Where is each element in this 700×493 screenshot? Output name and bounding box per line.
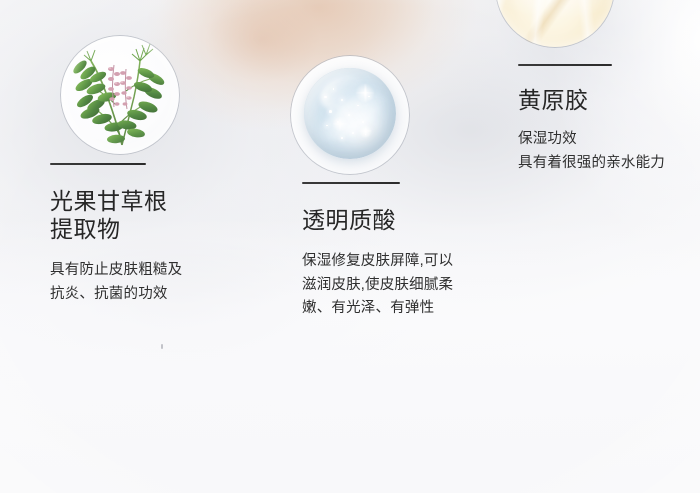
ingredient-feature-panel: 光果甘草根 提取物 具有防止皮肤粗糙及 抗炎、抗菌的功效 透明质酸 保湿修复皮肤… <box>0 0 700 493</box>
background-speck <box>161 344 163 349</box>
licorice-plant-icon <box>60 35 180 155</box>
divider-licorice <box>50 163 146 165</box>
description-xanthan: 保湿功效 具有着很强的亲水能力 <box>518 128 700 175</box>
water-droplet-sphere-icon <box>290 55 410 175</box>
description-licorice: 具有防止皮肤粗糙及 抗炎、抗菌的功效 <box>50 259 280 306</box>
description-hyaluronic: 保湿修复皮肤屏障,可以 滋润皮肤,使皮肤细腻柔 嫩、有光泽、有弹性 <box>302 250 512 320</box>
heading-licorice: 光果甘草根 提取物 <box>50 187 280 243</box>
heading-hyaluronic: 透明质酸 <box>302 206 512 234</box>
circle-ring-hyaluronic <box>290 55 410 175</box>
divider-xanthan <box>518 64 612 66</box>
ingredient-block-hyaluronic: 透明质酸 保湿修复皮肤屏障,可以 滋润皮肤,使皮肤细腻柔 嫩、有光泽、有弹性 <box>302 182 512 321</box>
xanthan-gum-icon <box>495 0 615 48</box>
circle-ring-licorice <box>60 35 180 155</box>
heading-xanthan: 黄原胶 <box>518 86 700 114</box>
ingredient-block-licorice: 光果甘草根 提取物 具有防止皮肤粗糙及 抗炎、抗菌的功效 <box>50 163 280 306</box>
ingredient-block-xanthan: 黄原胶 保湿功效 具有着很强的亲水能力 <box>518 64 700 175</box>
divider-hyaluronic <box>302 182 400 184</box>
